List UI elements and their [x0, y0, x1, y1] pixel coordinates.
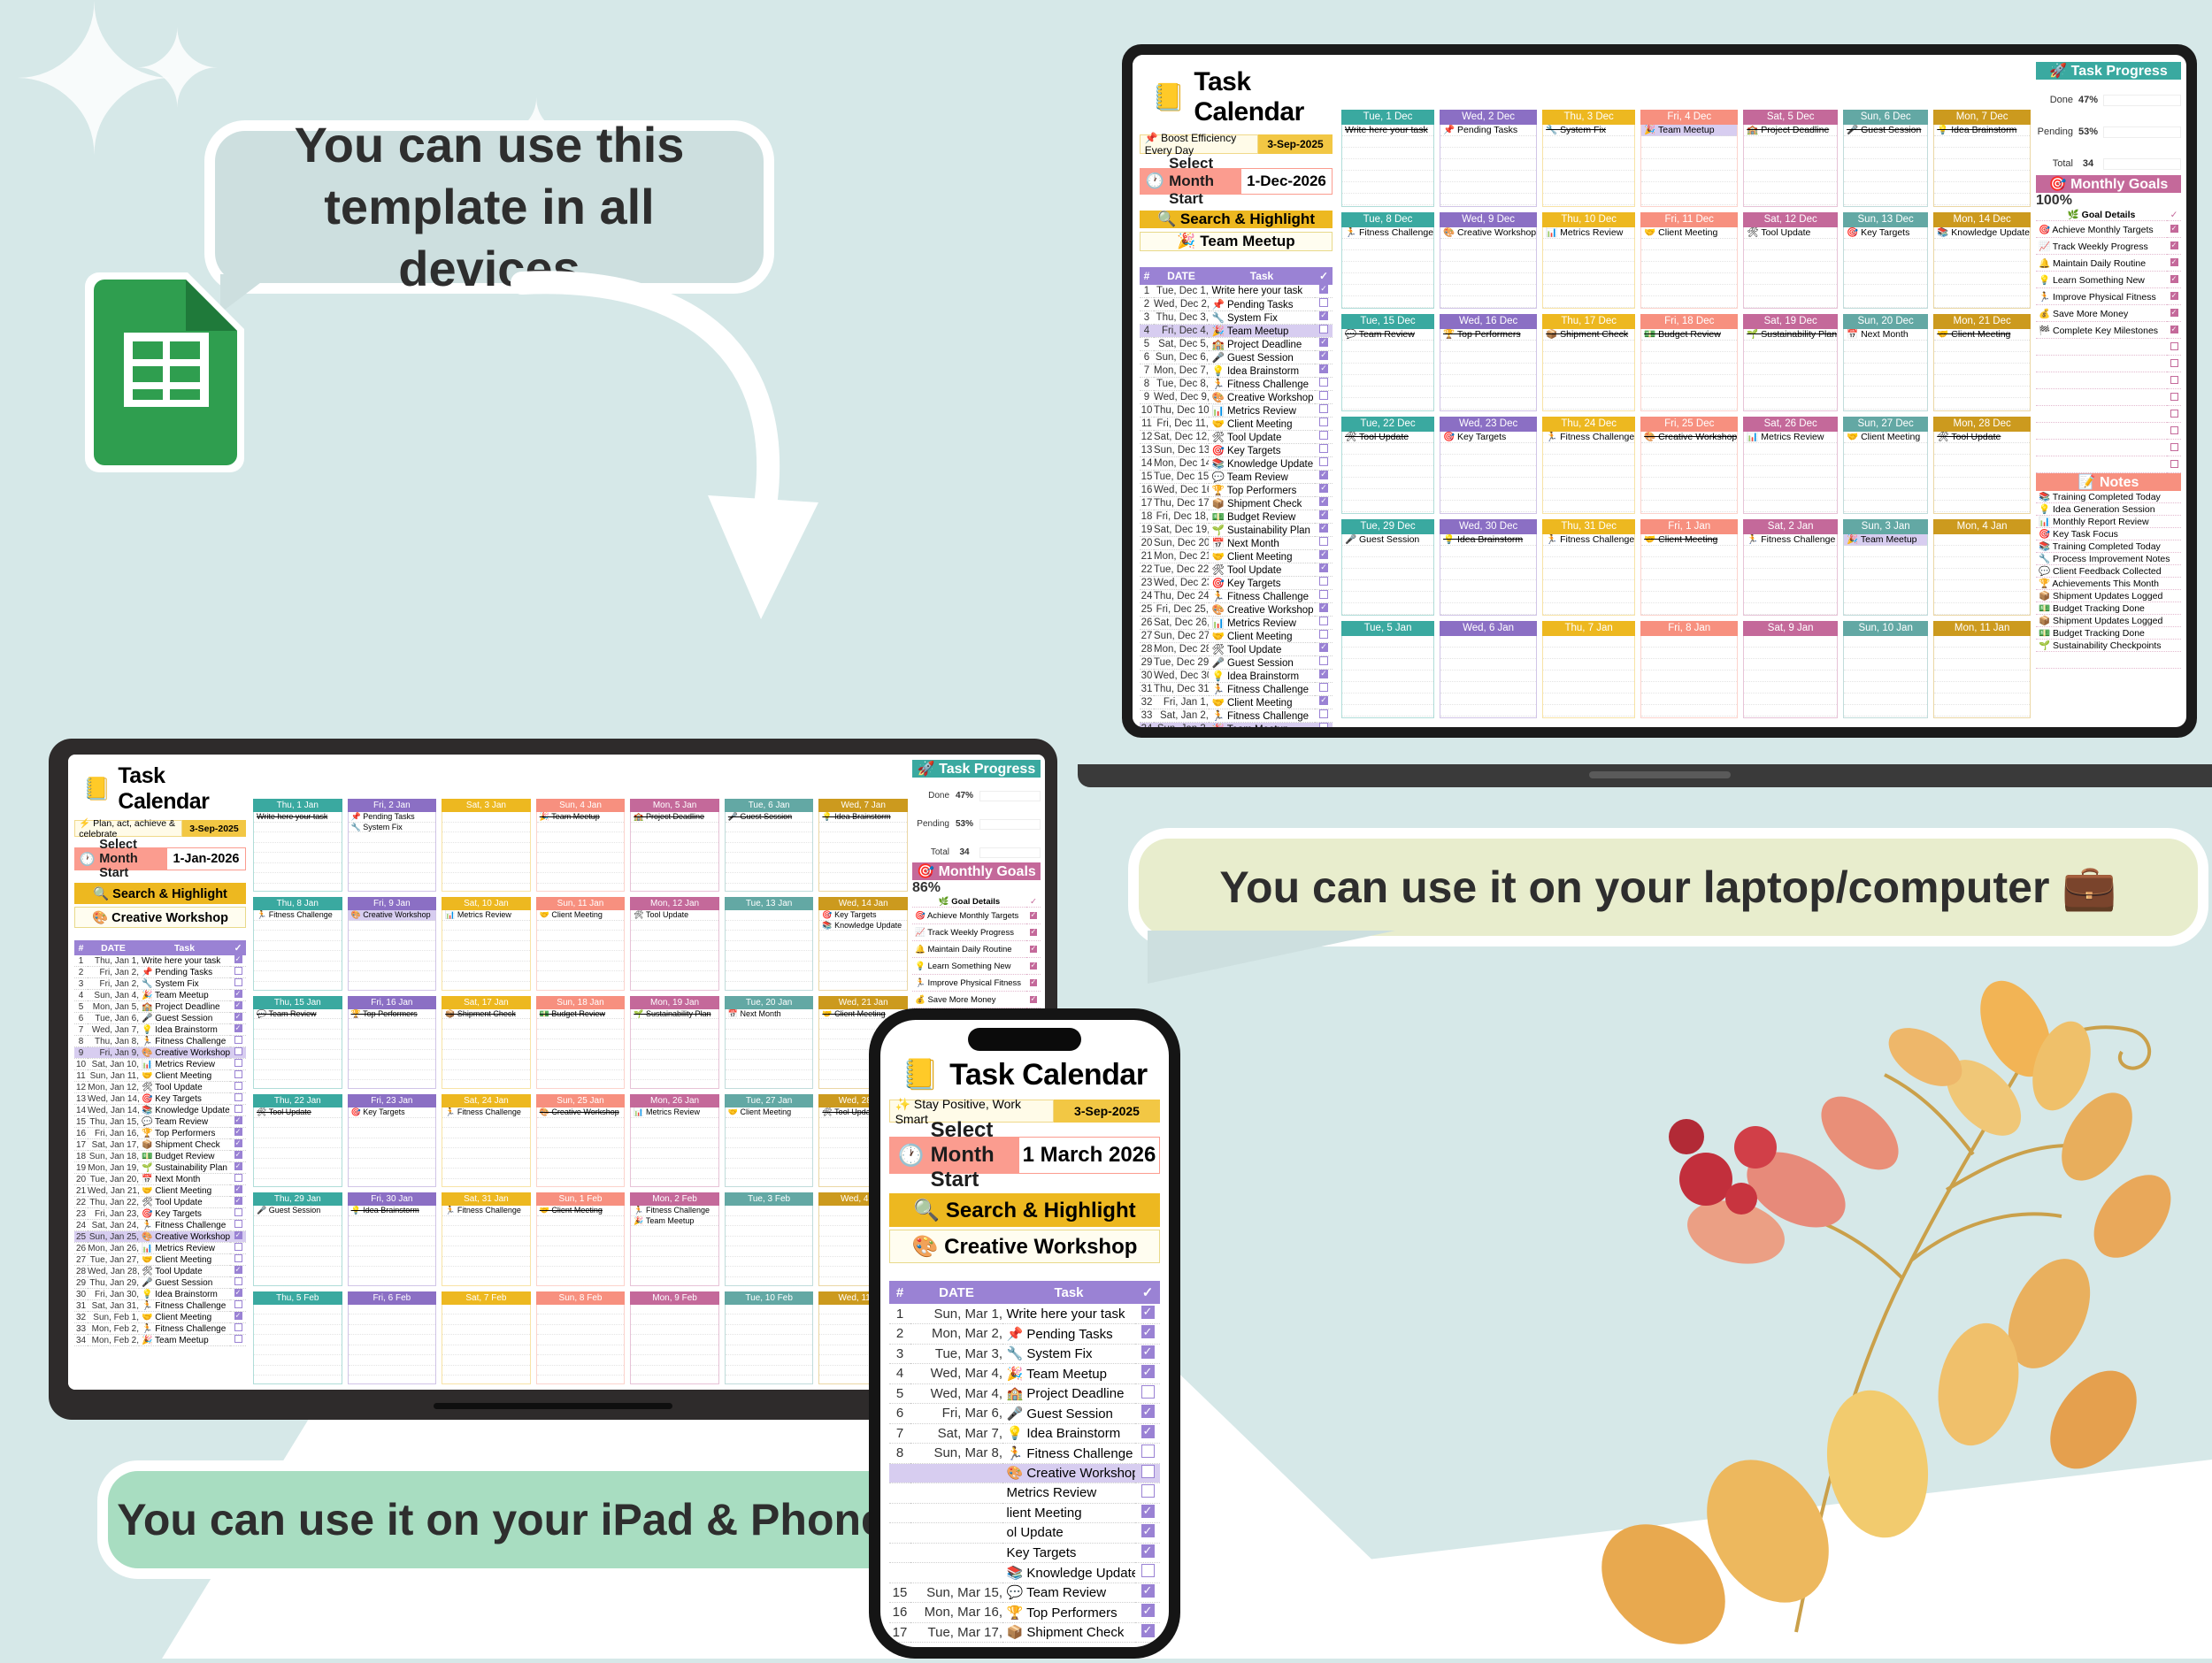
- search-highlight-button[interactable]: 🔍 Search & Highlight: [1140, 211, 1333, 228]
- calendar-event[interactable]: 💡 Idea Brainstorm: [1934, 125, 2030, 136]
- task-checkbox[interactable]: [234, 1185, 242, 1193]
- task-checkbox[interactable]: [234, 1231, 242, 1239]
- calendar-empty-slot[interactable]: [726, 1039, 813, 1050]
- calendar-event[interactable]: 🏃 Fitness Challenge: [1342, 227, 1433, 239]
- calendar-empty-slot[interactable]: [349, 931, 436, 941]
- calendar-event[interactable]: 💡 Idea Brainstorm: [349, 1206, 436, 1216]
- row-checkbox-cell[interactable]: [1315, 337, 1333, 350]
- calendar-empty-slot[interactable]: [1844, 239, 1927, 250]
- month-start-row[interactable]: 🕐 Select Month Start 1-Jan-2026: [74, 847, 246, 870]
- calendar-day-cell[interactable]: Sun, 11 Jan🤝 Client Meeting: [536, 897, 626, 990]
- calendar-empty-slot[interactable]: [1543, 659, 1634, 671]
- table-row[interactable]: 18Sun, Jan 18,💵 Budget Review: [74, 1151, 246, 1162]
- calendar-empty-slot[interactable]: [1440, 364, 1536, 375]
- calendar-empty-slot[interactable]: [442, 931, 530, 941]
- note-row[interactable]: 📚 Training Completed Today: [2036, 491, 2181, 503]
- calendar-empty-slot[interactable]: [1934, 580, 2030, 592]
- goal-checkbox[interactable]: [2170, 326, 2178, 333]
- calendar-empty-slot[interactable]: [1342, 569, 1433, 580]
- calendar-empty-slot[interactable]: [1440, 159, 1536, 171]
- table-row[interactable]: 21Mon, Dec 21,🤝 Client Meeting: [1140, 549, 1333, 563]
- calendar-empty-slot[interactable]: [726, 1216, 813, 1227]
- goal-checkbox[interactable]: [2170, 393, 2178, 401]
- table-row[interactable]: 3Fri, Jan 2,🔧 System Fix: [74, 978, 246, 990]
- task-checkbox[interactable]: [1319, 670, 1328, 678]
- row-checkbox-cell[interactable]: [230, 1220, 246, 1231]
- calendar-empty-slot[interactable]: [631, 1070, 718, 1081]
- calendar-empty-slot[interactable]: [1641, 296, 1737, 308]
- row-checkbox-cell[interactable]: [1315, 669, 1333, 682]
- calendar-empty-slot[interactable]: [254, 1169, 342, 1179]
- calendar-event[interactable]: 📦 Shipment Check: [1543, 329, 1634, 341]
- calendar-empty-slot[interactable]: [1844, 478, 1927, 489]
- calendar-event[interactable]: 🤝 Client Meeting: [537, 1206, 625, 1216]
- calendar-empty-slot[interactable]: [726, 1237, 813, 1247]
- calendar-empty-slot[interactable]: [726, 823, 813, 833]
- calendar-day-cell[interactable]: Sun, 1 Feb🤝 Client Meeting: [536, 1192, 626, 1285]
- calendar-empty-slot[interactable]: [631, 853, 718, 863]
- calendar-empty-slot[interactable]: [631, 823, 718, 833]
- calendar-empty-slot[interactable]: [1934, 705, 2030, 717]
- calendar-empty-slot[interactable]: [1844, 250, 1927, 262]
- calendar-empty-slot[interactable]: [1543, 250, 1634, 262]
- calendar-empty-slot[interactable]: [1440, 705, 1536, 717]
- calendar-empty-slot[interactable]: [537, 1118, 625, 1129]
- calendar-empty-slot[interactable]: [1844, 182, 1927, 194]
- calendar-empty-slot[interactable]: [819, 971, 907, 982]
- table-row[interactable]: 9Fri, Jan 9,🎨 Creative Workshop: [74, 1047, 246, 1059]
- row-checkbox-cell[interactable]: [1315, 510, 1333, 523]
- calendar-empty-slot[interactable]: [1440, 273, 1536, 285]
- calendar-day-cell[interactable]: Thu, 3 Dec🔧 System Fix: [1542, 110, 1635, 207]
- calendar-empty-slot[interactable]: [349, 1355, 436, 1366]
- calendar-empty-slot[interactable]: [1543, 694, 1634, 705]
- goal-row[interactable]: [2036, 389, 2181, 406]
- calendar-empty-slot[interactable]: [1342, 239, 1433, 250]
- goal-checkbox[interactable]: [2170, 342, 2178, 350]
- table-row[interactable]: 19Sat, Dec 19,🌱 Sustainability Plan: [1140, 523, 1333, 536]
- calendar-empty-slot[interactable]: [442, 843, 530, 854]
- calendar-event[interactable]: 🌱 Sustainability Plan: [631, 1009, 718, 1020]
- calendar-empty-slot[interactable]: [1641, 387, 1737, 398]
- row-checkbox-cell[interactable]: [1135, 1523, 1160, 1544]
- calendar-empty-slot[interactable]: [349, 1246, 436, 1257]
- calendar-day-cell[interactable]: Wed, 9 Dec🎨 Creative Workshop: [1440, 212, 1537, 310]
- calendar-empty-slot[interactable]: [1641, 285, 1737, 296]
- calendar-empty-slot[interactable]: [1342, 171, 1433, 182]
- goal-checkbox[interactable]: [1030, 962, 1037, 969]
- calendar-empty-slot[interactable]: [1641, 364, 1737, 375]
- table-row[interactable]: 13Wed, Jan 14,🎯 Key Targets: [74, 1093, 246, 1105]
- table-row[interactable]: 8Thu, Jan 8,🏃 Fitness Challenge: [74, 1036, 246, 1047]
- calendar-empty-slot[interactable]: [1844, 364, 1927, 375]
- task-checkbox[interactable]: [1141, 1564, 1155, 1577]
- note-row[interactable]: 💵 Budget Tracking Done: [2036, 627, 2181, 640]
- calendar-empty-slot[interactable]: [349, 1325, 436, 1336]
- calendar-day-cell[interactable]: Sat, 24 Jan🏃 Fitness Challenge: [442, 1094, 531, 1187]
- calendar-empty-slot[interactable]: [1543, 171, 1634, 182]
- calendar-event[interactable]: 📊 Metrics Review: [631, 1107, 718, 1118]
- calendar-empty-slot[interactable]: [1744, 489, 1837, 501]
- row-checkbox-cell[interactable]: [1135, 1583, 1160, 1603]
- calendar-empty-slot[interactable]: [254, 1050, 342, 1061]
- row-checkbox-cell[interactable]: [230, 1312, 246, 1323]
- calendar-day-cell[interactable]: Thu, 15 Jan💬 Team Review: [253, 996, 342, 1089]
- calendar-empty-slot[interactable]: [1844, 136, 1927, 148]
- calendar-empty-slot[interactable]: [1543, 273, 1634, 285]
- row-checkbox-cell[interactable]: [230, 1162, 246, 1174]
- calendar-empty-slot[interactable]: [1440, 136, 1536, 148]
- calendar-empty-slot[interactable]: [726, 1305, 813, 1315]
- calendar-event[interactable]: Write here your task: [254, 812, 342, 823]
- task-checkbox[interactable]: [1141, 1624, 1155, 1637]
- calendar-empty-slot[interactable]: [537, 1355, 625, 1366]
- row-checkbox-cell[interactable]: [1135, 1304, 1160, 1324]
- goal-checkbox-cell[interactable]: [1026, 924, 1041, 941]
- calendar-empty-slot[interactable]: [1440, 171, 1536, 182]
- task-checkbox[interactable]: [1319, 444, 1328, 453]
- table-row[interactable]: 8Tue, Dec 8,🏃 Fitness Challenge: [1140, 377, 1333, 390]
- search-highlight-value[interactable]: 🎨 Creative Workshop: [889, 1230, 1160, 1263]
- calendar-empty-slot[interactable]: [349, 1305, 436, 1315]
- calendar-empty-slot[interactable]: [1844, 694, 1927, 705]
- calendar-day-cell[interactable]: Mon, 7 Dec💡 Idea Brainstorm: [1933, 110, 2031, 207]
- calendar-empty-slot[interactable]: [254, 1216, 342, 1227]
- calendar-day-cell[interactable]: Sun, 25 Jan🎨 Creative Workshop: [536, 1094, 626, 1187]
- calendar-empty-slot[interactable]: [254, 873, 342, 884]
- row-checkbox-cell[interactable]: [1135, 1423, 1160, 1444]
- calendar-empty-slot[interactable]: [1440, 262, 1536, 273]
- task-checkbox[interactable]: [234, 1070, 242, 1078]
- calendar-empty-slot[interactable]: [1342, 341, 1433, 352]
- goal-row[interactable]: [2036, 423, 2181, 440]
- calendar-day-cell[interactable]: Tue, 6 Jan🎤 Guest Session: [725, 799, 814, 892]
- table-row[interactable]: 14Wed, Jan 14,📚 Knowledge Update: [74, 1105, 246, 1116]
- calendar-empty-slot[interactable]: [631, 1335, 718, 1345]
- goal-row[interactable]: 🔔 Maintain Daily Routine: [2036, 255, 2181, 272]
- goal-checkbox[interactable]: [2170, 292, 2178, 300]
- calendar-empty-slot[interactable]: [1641, 648, 1737, 659]
- calendar-empty-slot[interactable]: [254, 921, 342, 931]
- goal-checkbox[interactable]: [2170, 410, 2178, 418]
- calendar-event[interactable]: 🎯 Key Targets: [819, 910, 907, 921]
- calendar-event[interactable]: 🤝 Client Meeting: [726, 1107, 813, 1118]
- calendar-empty-slot[interactable]: [1934, 250, 2030, 262]
- calendar-empty-slot[interactable]: [819, 823, 907, 833]
- calendar-empty-slot[interactable]: [349, 971, 436, 982]
- table-row[interactable]: 7Sat, Mar 7,💡 Idea Brainstorm: [889, 1423, 1160, 1444]
- calendar-empty-slot[interactable]: [1744, 136, 1837, 148]
- calendar-empty-slot[interactable]: [1934, 285, 2030, 296]
- calendar-empty-slot[interactable]: [254, 1019, 342, 1030]
- calendar-empty-slot[interactable]: [1744, 159, 1837, 171]
- calendar-empty-slot[interactable]: [537, 1019, 625, 1030]
- table-row[interactable]: 1Sun, Mar 1,Write here your task: [889, 1304, 1160, 1324]
- row-checkbox-cell[interactable]: [1315, 642, 1333, 655]
- task-checkbox[interactable]: [1319, 590, 1328, 599]
- table-row[interactable]: 33Mon, Feb 2,🏃 Fitness Challenge: [74, 1323, 246, 1335]
- table-row[interactable]: 3Thu, Dec 3,🔧 System Fix: [1140, 310, 1333, 324]
- calendar-event[interactable]: 💵 Budget Review: [537, 1009, 625, 1020]
- table-row[interactable]: 21Wed, Jan 21,🤝 Client Meeting: [74, 1185, 246, 1197]
- row-checkbox-cell[interactable]: [230, 1289, 246, 1300]
- calendar-empty-slot[interactable]: [726, 863, 813, 874]
- calendar-empty-slot[interactable]: [1844, 273, 1927, 285]
- calendar-empty-slot[interactable]: [726, 843, 813, 854]
- calendar-empty-slot[interactable]: [1342, 546, 1433, 557]
- calendar-empty-slot[interactable]: [631, 1257, 718, 1268]
- calendar-empty-slot[interactable]: [254, 1335, 342, 1345]
- calendar-day-cell[interactable]: Thu, 10 Dec📊 Metrics Review: [1542, 212, 1635, 310]
- calendar-empty-slot[interactable]: [1934, 694, 2030, 705]
- calendar-day-cell[interactable]: Sun, 6 Dec🎤 Guest Session: [1843, 110, 1928, 207]
- calendar-empty-slot[interactable]: [631, 1355, 718, 1366]
- calendar-event[interactable]: 📅 Next Month: [1844, 329, 1927, 341]
- calendar-empty-slot[interactable]: [1342, 478, 1433, 489]
- calendar-empty-slot[interactable]: [254, 1257, 342, 1268]
- task-checkbox[interactable]: [1319, 471, 1328, 479]
- table-row[interactable]: 23Wed, Dec 23,🎯 Key Targets: [1140, 576, 1333, 589]
- row-checkbox-cell[interactable]: [230, 1243, 246, 1254]
- calendar-day-cell[interactable]: Thu, 29 Jan🎤 Guest Session: [253, 1192, 342, 1285]
- table-row[interactable]: 12Sat, Dec 12,🛠 Tool Update: [1140, 430, 1333, 443]
- table-row[interactable]: 27Sun, Dec 27,🤝 Client Meeting: [1140, 629, 1333, 642]
- goal-checkbox[interactable]: [2170, 460, 2178, 468]
- calendar-empty-slot[interactable]: [254, 962, 342, 972]
- calendar-empty-slot[interactable]: [442, 1246, 530, 1257]
- calendar-empty-slot[interactable]: [1744, 501, 1837, 512]
- task-checkbox[interactable]: [1319, 723, 1328, 727]
- row-checkbox-cell[interactable]: [230, 1047, 246, 1059]
- calendar-empty-slot[interactable]: [1744, 296, 1837, 308]
- calendar-empty-slot[interactable]: [254, 1237, 342, 1247]
- calendar-empty-slot[interactable]: [1844, 296, 1927, 308]
- calendar-empty-slot[interactable]: [1744, 398, 1837, 410]
- calendar-empty-slot[interactable]: [254, 1305, 342, 1315]
- calendar-empty-slot[interactable]: [254, 823, 342, 833]
- row-checkbox-cell[interactable]: [1135, 1463, 1160, 1483]
- note-row[interactable]: 📦 Shipment Updates Logged: [2036, 615, 2181, 627]
- calendar-empty-slot[interactable]: [726, 1355, 813, 1366]
- calendar-empty-slot[interactable]: [1934, 557, 2030, 569]
- calendar-empty-slot[interactable]: [1342, 182, 1433, 194]
- row-checkbox-cell[interactable]: [1315, 364, 1333, 377]
- calendar-empty-slot[interactable]: [1342, 671, 1433, 682]
- calendar-empty-slot[interactable]: [254, 1138, 342, 1149]
- goal-row[interactable]: 🔔 Maintain Daily Routine: [912, 941, 1041, 958]
- calendar-empty-slot[interactable]: [1844, 546, 1927, 557]
- calendar-empty-slot[interactable]: [254, 951, 342, 962]
- calendar-empty-slot[interactable]: [537, 931, 625, 941]
- calendar-empty-slot[interactable]: [631, 1039, 718, 1050]
- task-checkbox[interactable]: [1141, 1306, 1155, 1319]
- table-row[interactable]: 32Fri, Jan 1,🤝 Client Meeting: [1140, 695, 1333, 709]
- calendar-empty-slot[interactable]: [537, 1335, 625, 1345]
- row-checkbox-cell[interactable]: [230, 1266, 246, 1277]
- calendar-event[interactable]: 🎯 Key Targets: [1844, 227, 1927, 239]
- calendar-empty-slot[interactable]: [442, 1257, 530, 1268]
- calendar-empty-slot[interactable]: [349, 1169, 436, 1179]
- calendar-empty-slot[interactable]: [1440, 466, 1536, 478]
- calendar-empty-slot[interactable]: [537, 1345, 625, 1356]
- calendar-event[interactable]: 🎤 Guest Session: [1342, 534, 1433, 546]
- note-row[interactable]: 🌱 Sustainability Checkpoints: [2036, 640, 2181, 652]
- calendar-empty-slot[interactable]: [1934, 682, 2030, 694]
- calendar-empty-slot[interactable]: [1641, 603, 1737, 615]
- calendar-empty-slot[interactable]: [1543, 341, 1634, 352]
- task-checkbox[interactable]: [234, 1013, 242, 1021]
- calendar-empty-slot[interactable]: [1934, 171, 2030, 182]
- calendar-empty-slot[interactable]: [1543, 352, 1634, 364]
- calendar-event[interactable]: 🏆 Top Performers: [1440, 329, 1536, 341]
- calendar-empty-slot[interactable]: [1641, 705, 1737, 717]
- calendar-empty-slot[interactable]: [1934, 636, 2030, 648]
- row-checkbox-cell[interactable]: [1315, 722, 1333, 727]
- task-checkbox[interactable]: [1141, 1604, 1155, 1617]
- table-row[interactable]: 4Wed, Mar 4,🎉 Team Meetup: [889, 1364, 1160, 1384]
- calendar-empty-slot[interactable]: [631, 1030, 718, 1040]
- calendar-empty-slot[interactable]: [1641, 171, 1737, 182]
- calendar-empty-slot[interactable]: [1934, 159, 2030, 171]
- row-checkbox-cell[interactable]: [1135, 1603, 1160, 1623]
- row-checkbox-cell[interactable]: [1315, 549, 1333, 563]
- row-checkbox-cell[interactable]: [230, 967, 246, 978]
- calendar-empty-slot[interactable]: [349, 1128, 436, 1138]
- calendar-empty-slot[interactable]: [1440, 682, 1536, 694]
- calendar-empty-slot[interactable]: [1543, 398, 1634, 410]
- table-row[interactable]: 📚 Knowledge Update: [889, 1563, 1160, 1583]
- row-checkbox-cell[interactable]: [230, 1024, 246, 1036]
- calendar-empty-slot[interactable]: [254, 1039, 342, 1050]
- calendar-day-cell[interactable]: Mon, 14 Dec📚 Knowledge Update: [1933, 212, 2031, 310]
- task-checkbox[interactable]: [1141, 1505, 1155, 1518]
- calendar-day-cell[interactable]: Thu, 8 Jan🏃 Fitness Challenge: [253, 897, 342, 990]
- calendar-empty-slot[interactable]: [349, 1345, 436, 1356]
- goal-checkbox-cell[interactable]: [2167, 356, 2181, 372]
- calendar-empty-slot[interactable]: [1440, 501, 1536, 512]
- calendar-event[interactable]: 📌 Pending Tasks: [1440, 125, 1536, 136]
- note-row[interactable]: [2036, 652, 2181, 669]
- calendar-empty-slot[interactable]: [819, 873, 907, 884]
- calendar-empty-slot[interactable]: [1641, 694, 1737, 705]
- table-row[interactable]: 26Sat, Dec 26,📊 Metrics Review: [1140, 616, 1333, 629]
- task-checkbox[interactable]: [1141, 1445, 1155, 1458]
- calendar-empty-slot[interactable]: [631, 1148, 718, 1159]
- goal-row[interactable]: [2036, 372, 2181, 389]
- calendar-empty-slot[interactable]: [1543, 546, 1634, 557]
- task-checkbox[interactable]: [1319, 524, 1328, 533]
- calendar-empty-slot[interactable]: [1342, 455, 1433, 466]
- calendar-empty-slot[interactable]: [1844, 443, 1927, 455]
- calendar-empty-slot[interactable]: [726, 1030, 813, 1040]
- calendar-day-cell[interactable]: Sat, 2 Jan🏃 Fitness Challenge: [1743, 519, 1838, 617]
- calendar-empty-slot[interactable]: [537, 1257, 625, 1268]
- calendar-empty-slot[interactable]: [1342, 250, 1433, 262]
- calendar-empty-slot[interactable]: [1440, 296, 1536, 308]
- task-checkbox[interactable]: [1319, 338, 1328, 347]
- goal-checkbox-cell[interactable]: [2167, 406, 2181, 423]
- table-row[interactable]: 12Mon, Jan 12,🛠 Tool Update: [74, 1082, 246, 1093]
- task-checkbox[interactable]: [1319, 656, 1328, 665]
- calendar-event[interactable]: 🛠 Tool Update: [254, 1107, 342, 1118]
- calendar-empty-slot[interactable]: [442, 951, 530, 962]
- calendar-day-cell[interactable]: Wed, 30 Dec💡 Idea Brainstorm: [1440, 519, 1537, 617]
- calendar-empty-slot[interactable]: [442, 1345, 530, 1356]
- calendar-day-cell[interactable]: Sun, 18 Jan💵 Budget Review: [536, 996, 626, 1089]
- calendar-day-cell[interactable]: Fri, 11 Dec🤝 Client Meeting: [1640, 212, 1738, 310]
- calendar-empty-slot[interactable]: [1844, 603, 1927, 615]
- table-row[interactable]: 28Mon, Dec 28,🛠 Tool Update: [1140, 642, 1333, 655]
- calendar-empty-slot[interactable]: [726, 1206, 813, 1216]
- calendar-empty-slot[interactable]: [442, 1159, 530, 1169]
- calendar-empty-slot[interactable]: [1641, 671, 1737, 682]
- calendar-empty-slot[interactable]: [726, 1246, 813, 1257]
- calendar-empty-slot[interactable]: [1844, 159, 1927, 171]
- calendar-empty-slot[interactable]: [1543, 489, 1634, 501]
- row-checkbox-cell[interactable]: [1315, 310, 1333, 324]
- calendar-empty-slot[interactable]: [442, 1118, 530, 1129]
- calendar-empty-slot[interactable]: [631, 1305, 718, 1315]
- goal-checkbox-cell[interactable]: [1026, 975, 1041, 992]
- calendar-empty-slot[interactable]: [442, 1060, 530, 1070]
- calendar-event[interactable]: 📅 Next Month: [726, 1009, 813, 1020]
- calendar-empty-slot[interactable]: [631, 1226, 718, 1237]
- calendar-empty-slot[interactable]: [537, 1148, 625, 1159]
- calendar-empty-slot[interactable]: [1641, 194, 1737, 205]
- calendar-empty-slot[interactable]: [1744, 694, 1837, 705]
- table-row[interactable]: 6Fri, Mar 6,🎤 Guest Session: [889, 1404, 1160, 1424]
- calendar-day-cell[interactable]: Thu, 7 Jan: [1542, 621, 1635, 718]
- calendar-empty-slot[interactable]: [1641, 682, 1737, 694]
- row-checkbox-cell[interactable]: [1315, 324, 1333, 337]
- calendar-event[interactable]: 💡 Idea Brainstorm: [819, 812, 907, 823]
- calendar-empty-slot[interactable]: [631, 1050, 718, 1061]
- calendar-empty-slot[interactable]: [1342, 557, 1433, 569]
- calendar-empty-slot[interactable]: [1440, 592, 1536, 603]
- row-checkbox-cell[interactable]: [230, 1082, 246, 1093]
- calendar-empty-slot[interactable]: [1342, 398, 1433, 410]
- calendar-empty-slot[interactable]: [442, 962, 530, 972]
- table-row[interactable]: 8Sun, Mar 8,🏃 Fitness Challenge: [889, 1444, 1160, 1464]
- calendar-empty-slot[interactable]: [1744, 557, 1837, 569]
- row-checkbox-cell[interactable]: [1315, 576, 1333, 589]
- calendar-empty-slot[interactable]: [1641, 443, 1737, 455]
- row-checkbox-cell[interactable]: [1315, 350, 1333, 364]
- calendar-empty-slot[interactable]: [1440, 182, 1536, 194]
- task-checkbox[interactable]: [1319, 325, 1328, 333]
- calendar-event[interactable]: 🏃 Fitness Challenge: [1744, 534, 1837, 546]
- task-checkbox[interactable]: [234, 1059, 242, 1067]
- calendar-empty-slot[interactable]: [631, 1314, 718, 1325]
- calendar-empty-slot[interactable]: [1543, 443, 1634, 455]
- calendar-empty-slot[interactable]: [349, 1226, 436, 1237]
- row-checkbox-cell[interactable]: [1135, 1503, 1160, 1523]
- calendar-empty-slot[interactable]: [1543, 478, 1634, 489]
- table-row[interactable]: 11Sun, Jan 11,🤝 Client Meeting: [74, 1070, 246, 1082]
- task-checkbox[interactable]: [234, 1174, 242, 1182]
- calendar-empty-slot[interactable]: [1844, 682, 1927, 694]
- task-checkbox[interactable]: [234, 1001, 242, 1009]
- calendar-empty-slot[interactable]: [1342, 648, 1433, 659]
- row-checkbox-cell[interactable]: [1315, 536, 1333, 549]
- calendar-day-cell[interactable]: Thu, 17 Dec📦 Shipment Check: [1542, 314, 1635, 411]
- calendar-day-cell[interactable]: Tue, 22 Dec🛠 Tool Update: [1341, 417, 1434, 514]
- calendar-empty-slot[interactable]: [442, 1267, 530, 1277]
- goal-row[interactable]: 📈 Track Weekly Progress: [912, 924, 1041, 941]
- calendar-empty-slot[interactable]: [726, 1169, 813, 1179]
- calendar-event[interactable]: 🏃 Fitness Challenge: [1543, 534, 1634, 546]
- calendar-empty-slot[interactable]: [1342, 501, 1433, 512]
